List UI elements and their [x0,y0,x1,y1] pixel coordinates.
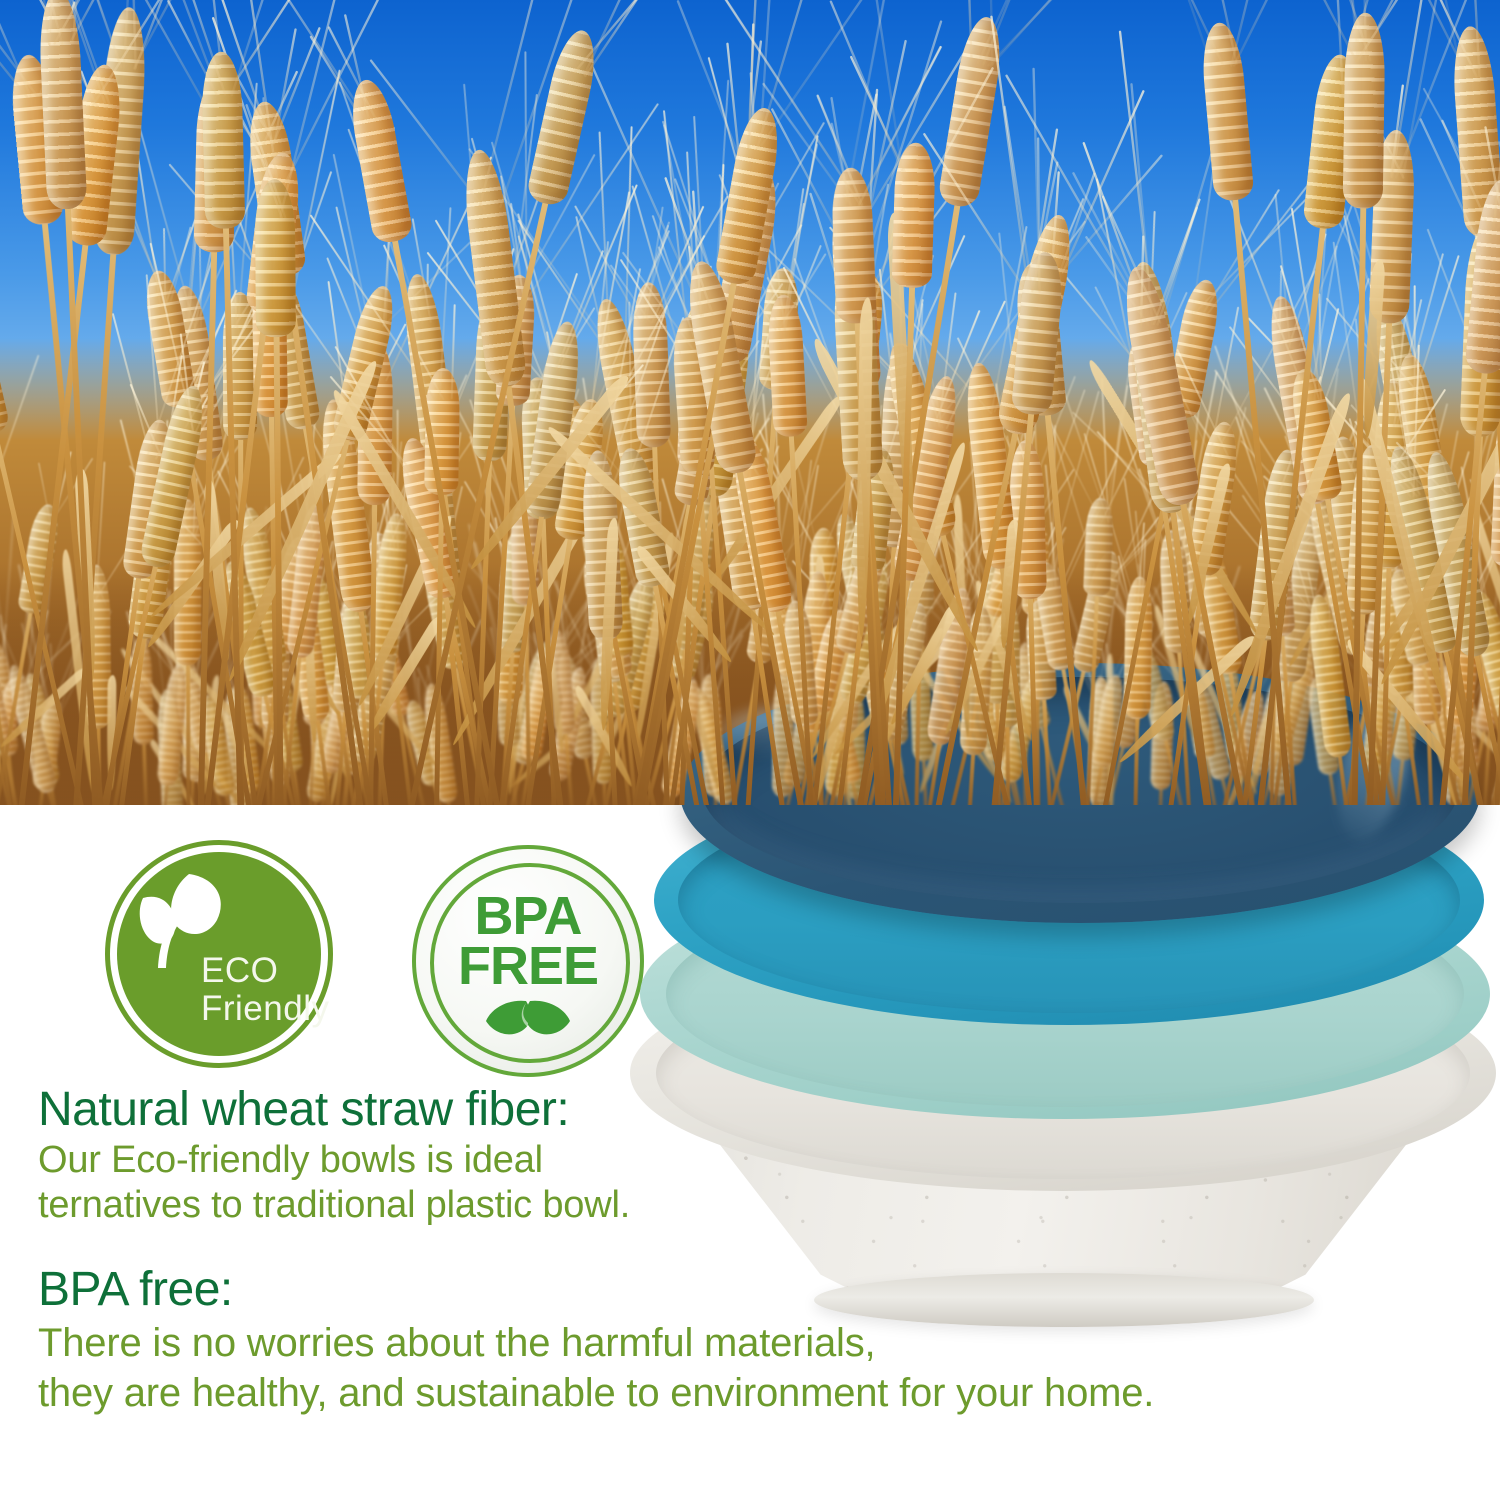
feature-block-wheat-fiber: Natural wheat straw fiber: Our Eco-frien… [38,1082,798,1228]
feature-body-line: Our Eco-friendly bowls is ideal [38,1138,798,1183]
eco-badge-text: ECO Friendly [201,952,331,1028]
bpa-free-badge: BPA FREE [412,845,644,1077]
bpa-badge-text: BPA FREE [412,891,644,991]
feature-block-bpa-free: BPA free: There is no worries about the … [38,1262,1328,1418]
feature-heading: BPA free: [38,1262,1328,1318]
two-leaves-icon [480,997,576,1041]
product-infographic: ECO Friendly BPA FREE [0,0,1500,1500]
eco-friendly-badge: ECO Friendly [105,840,333,1068]
feature-heading: Natural wheat straw fiber: [38,1082,798,1138]
eco-label-line1: ECO [201,951,278,990]
bpa-label-line2: FREE [412,941,644,991]
eco-label-line2: Friendly [201,990,331,1028]
feature-body: There is no worries about the harmful ma… [38,1318,1328,1418]
feature-body-line: ternatives to traditional plastic bowl. [38,1183,798,1228]
bpa-label-line1: BPA [412,891,644,941]
feature-body-line: they are healthy, and sustainable to env… [38,1368,1328,1418]
wheat-field-photo [0,0,1500,805]
feature-body: Our Eco-friendly bowls is ideal ternativ… [38,1138,798,1228]
feature-body-line: There is no worries about the harmful ma… [38,1318,1328,1368]
